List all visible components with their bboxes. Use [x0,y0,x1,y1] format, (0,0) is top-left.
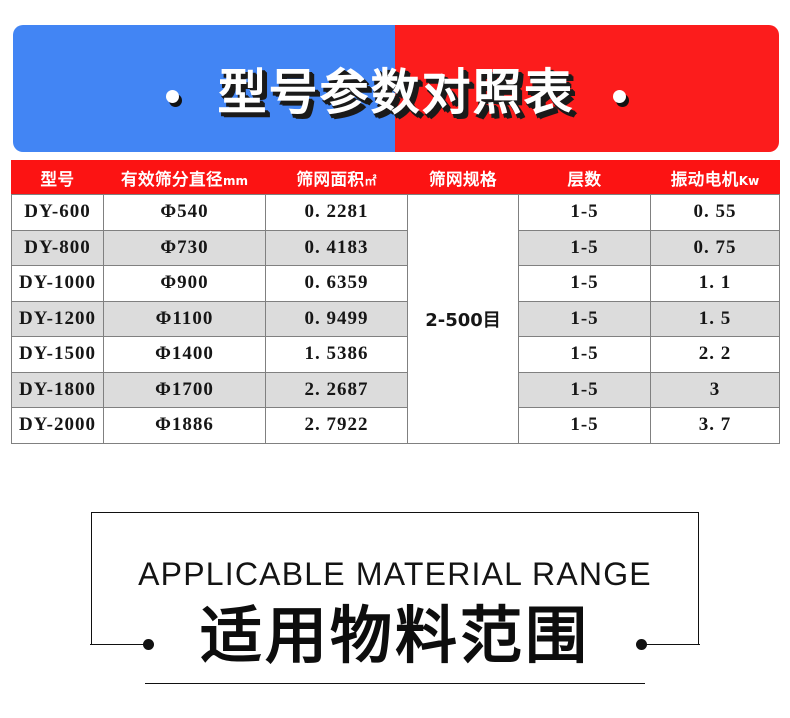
cell-motor: 0. 75 [651,230,780,266]
col-header-area-label: 筛网面积 [296,170,364,189]
col-header-layers: 层数 [519,161,651,195]
panel-chinese-title: 适用物料范围 [91,603,699,668]
banner-left-dot [166,90,179,103]
col-header-motor: 振动电机Kw [651,161,780,195]
cell-diameter: Φ1400 [104,337,266,373]
col-header-diameter-label: 有效筛分直径 [121,170,223,189]
cell-area: 0. 6359 [266,266,408,302]
section-banner: 型号参数对照表 [13,25,779,152]
cell-layers: 1-5 [519,372,651,408]
table-row: DY-1000 Φ900 0. 6359 1-5 1. 1 [12,266,780,302]
col-header-motor-unit: Kw [739,174,759,188]
cell-layers: 1-5 [519,230,651,266]
cell-diameter: Φ1700 [104,372,266,408]
cell-area: 2. 7922 [266,408,408,444]
cell-diameter: Φ900 [104,266,266,302]
cell-motor: 1. 1 [651,266,780,302]
cell-diameter: Φ1100 [104,301,266,337]
cell-mesh-spec: 2-500目 [408,195,519,444]
cell-motor: 2. 2 [651,337,780,373]
col-header-diameter-unit: mm [223,174,248,188]
table-header: 型号 有效筛分直径mm 筛网面积㎡ 筛网规格 层数 振动电机Kw [12,161,780,195]
cell-diameter: Φ1886 [104,408,266,444]
banner-title: 型号参数对照表 [217,53,574,124]
applicable-material-panel: APPLICABLE MATERIAL RANGE 适用物料范围 [91,512,699,684]
col-header-mesh-spec-label: 筛网规格 [429,170,497,189]
cell-model: DY-2000 [12,408,104,444]
cell-layers: 1-5 [519,195,651,231]
cell-layers: 1-5 [519,266,651,302]
cell-layers: 1-5 [519,408,651,444]
cell-model: DY-1800 [12,372,104,408]
cell-diameter: Φ730 [104,230,266,266]
col-header-model-label: 型号 [41,170,75,189]
cell-model: DY-600 [12,195,104,231]
banner-right-dot [613,90,626,103]
table-header-row: 型号 有效筛分直径mm 筛网面积㎡ 筛网规格 层数 振动电机Kw [12,161,780,195]
cell-area: 0. 4183 [266,230,408,266]
cell-motor: 3 [651,372,780,408]
col-header-motor-label: 振动电机 [671,170,739,189]
cell-area: 2. 2687 [266,372,408,408]
cell-model: DY-1000 [12,266,104,302]
col-header-area: 筛网面积㎡ [266,161,408,195]
table-row: DY-1500 Φ1400 1. 5386 1-5 2. 2 [12,337,780,373]
table-row: DY-600 Φ540 0. 2281 2-500目 1-5 0. 55 [12,195,780,231]
col-header-area-unit: ㎡ [364,174,376,188]
cell-model: DY-800 [12,230,104,266]
cell-diameter: Φ540 [104,195,266,231]
table-row: DY-800 Φ730 0. 4183 1-5 0. 75 [12,230,780,266]
col-header-layers-label: 层数 [568,170,602,189]
col-header-mesh-spec: 筛网规格 [408,161,519,195]
cell-layers: 1-5 [519,337,651,373]
cell-area: 0. 2281 [266,195,408,231]
col-header-diameter: 有效筛分直径mm [104,161,266,195]
table-row: DY-1800 Φ1700 2. 2687 1-5 3 [12,372,780,408]
spec-table: 型号 有效筛分直径mm 筛网面积㎡ 筛网规格 层数 振动电机Kw DY-600 … [11,160,780,444]
cell-motor: 0. 55 [651,195,780,231]
banner-content: 型号参数对照表 [13,25,779,152]
cell-area: 0. 9499 [266,301,408,337]
cell-model: DY-1500 [12,337,104,373]
table-body: DY-600 Φ540 0. 2281 2-500目 1-5 0. 55 DY-… [12,195,780,444]
panel-english-title: APPLICABLE MATERIAL RANGE [91,556,699,593]
col-header-model: 型号 [12,161,104,195]
cell-motor: 1. 5 [651,301,780,337]
table-row: DY-2000 Φ1886 2. 7922 1-5 3. 7 [12,408,780,444]
cell-model: DY-1200 [12,301,104,337]
cell-area: 1. 5386 [266,337,408,373]
cell-layers: 1-5 [519,301,651,337]
cell-motor: 3. 7 [651,408,780,444]
table-row: DY-1200 Φ1100 0. 9499 1-5 1. 5 [12,301,780,337]
